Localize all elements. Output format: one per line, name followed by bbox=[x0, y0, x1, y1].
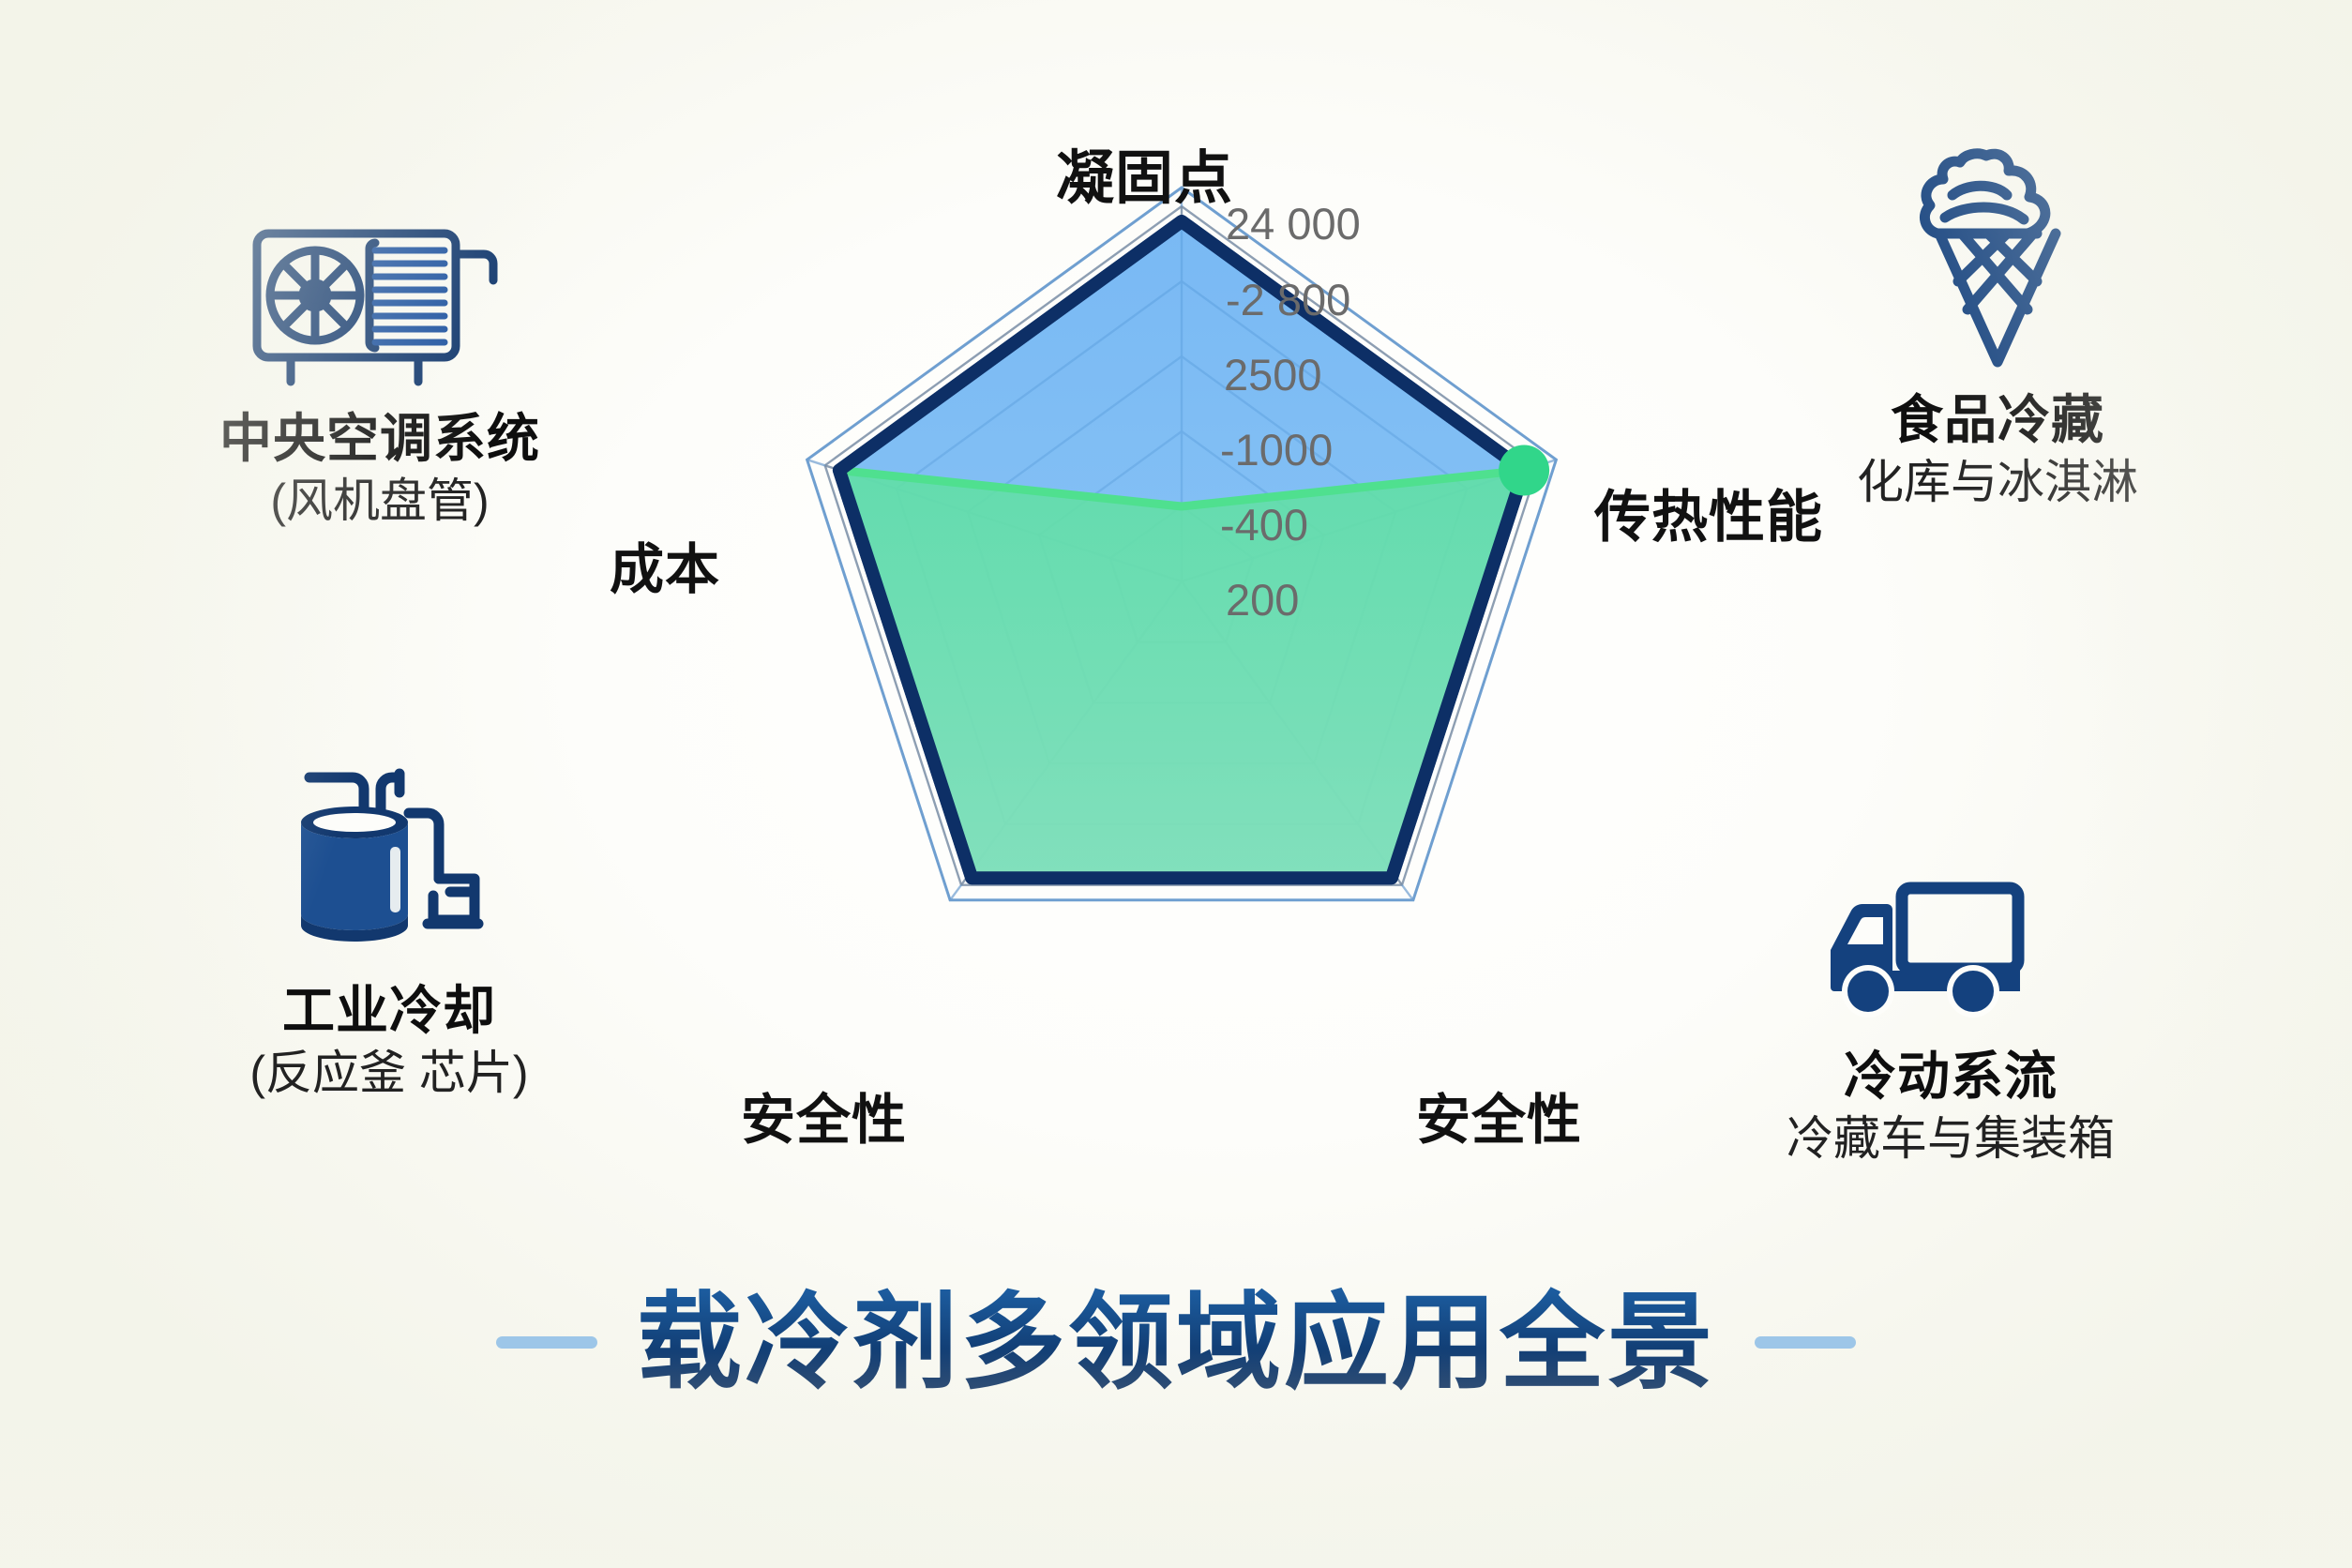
air-conditioner-icon bbox=[136, 188, 624, 394]
radar-chart: 24 000 -2 800 2500 -1000 -400 200 bbox=[713, 141, 1651, 1144]
application-subtitle: (反应釜 芯片) bbox=[173, 1047, 605, 1101]
tick-label-2: 2500 bbox=[1224, 350, 1322, 400]
tick-label-0: 24 000 bbox=[1226, 199, 1361, 249]
reactor-tank-icon bbox=[173, 760, 605, 966]
tick-label-5: 200 bbox=[1226, 575, 1299, 625]
radar-series-green bbox=[839, 471, 1524, 879]
infographic-page: 24 000 -2 800 2500 -1000 -400 200 凝固点 传热… bbox=[0, 0, 2352, 1568]
tick-label-1: -2 800 bbox=[1226, 275, 1350, 324]
page-title: 载冷剂多领域应用全景 bbox=[637, 1285, 1715, 1400]
application-subtitle: (风机盘管) bbox=[136, 475, 624, 529]
application-cold-chain: 冷动系流 冷藏车与集装箱 bbox=[1688, 825, 2213, 1167]
application-subtitle: 化库与冰淇淋 bbox=[1754, 456, 2241, 510]
application-title: 中央空调系统 bbox=[136, 409, 624, 469]
application-subtitle: 冷藏车与集装箱 bbox=[1688, 1112, 2213, 1167]
tick-label-4: -400 bbox=[1220, 500, 1308, 550]
radar-marker-dot[interactable] bbox=[1499, 445, 1549, 496]
application-title: 食品冷藏 bbox=[1754, 390, 2241, 450]
radar-axis-label-cost: 成本 bbox=[610, 542, 720, 599]
banner: 载冷剂多领域应用全景 bbox=[0, 1285, 2352, 1400]
tick-label-3: -1000 bbox=[1220, 425, 1333, 475]
banner-dash-left bbox=[496, 1336, 597, 1349]
application-title: 冷动系流 bbox=[1688, 1047, 2213, 1107]
radar-axis-label-freezing-point: 凝固点 bbox=[1056, 148, 1233, 209]
radar-axis-label-safety-left: 安全性 bbox=[741, 1093, 907, 1150]
radar-axis-label-safety-right: 安全性 bbox=[1416, 1093, 1582, 1150]
application-central-ac: 中央空调系统 (风机盘管) bbox=[136, 188, 624, 529]
application-title: 工业冷却 bbox=[173, 981, 605, 1041]
application-industrial-cooling: 工业冷却 (反应釜 芯片) bbox=[173, 760, 605, 1101]
application-food-refrigeration: 食品冷藏 化库与冰淇淋 bbox=[1754, 169, 2241, 510]
ice-cream-cone-icon bbox=[1754, 169, 2241, 375]
banner-dash-right bbox=[1755, 1336, 1856, 1349]
radar-axis-label-heat-transfer: 传热性能 bbox=[1594, 488, 1754, 547]
delivery-truck-icon bbox=[1688, 825, 2213, 1032]
